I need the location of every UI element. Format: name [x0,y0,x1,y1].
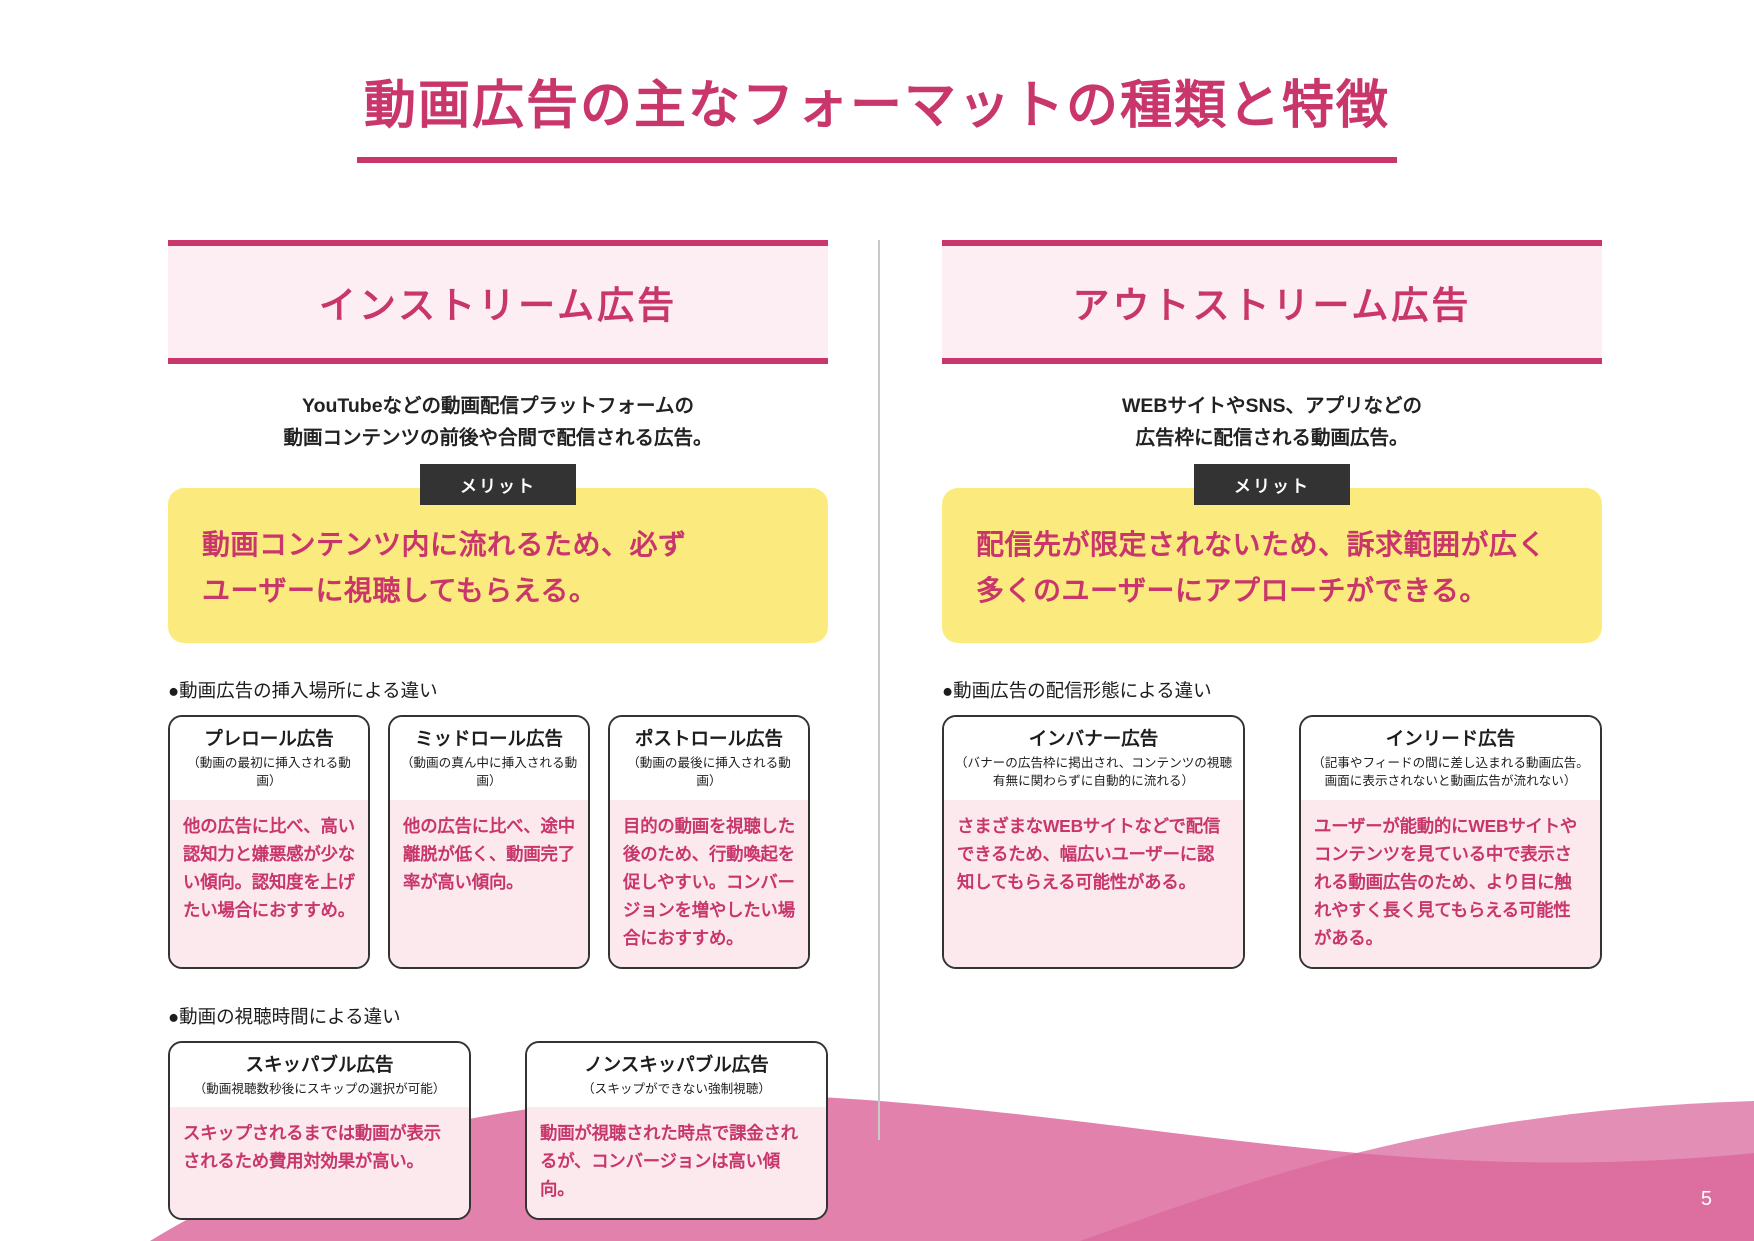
merit-line: 多くのユーザーにアプローチができる。 [976,568,1568,613]
column-description-line: 動画コンテンツの前後や合間で配信される広告。 [168,422,828,454]
column-description: WEBサイトやSNS、アプリなどの 広告枠に配信される動画広告。 [942,390,1602,454]
merit-block: メリット 動画コンテンツ内に流れるため、必ず ユーザーに視聴してもらえる。 [168,488,828,643]
column-divider [878,240,880,1140]
card-text: さまざまなWEBサイトなどで配信できるため、幅広いユーザーに認知してもらえる可能… [957,812,1230,897]
card-body: スキップされるまでは動画が表示されるため費用対効果が高い。 [170,1107,469,1218]
column-description-line: YouTubeなどの動画配信プラットフォームの [168,390,828,422]
column-description: YouTubeなどの動画配信プラットフォームの 動画コンテンツの前後や合間で配信… [168,390,828,454]
title-underline [357,157,1397,163]
column-banner: アウトストリーム広告 [942,240,1602,364]
card-subtitle: （記事やフィードの間に差し込まれる動画広告。画面に表示されないと動画広告が流れな… [1309,754,1592,791]
card-subtitle: （動画の最後に挿入される動画） [618,754,800,791]
card-body: 他の広告に比べ、途中離脱が低く、動画完了率が高い傾向。 [390,800,588,967]
card-subtitle: （動画の最初に挿入される動画） [178,754,360,791]
column-banner-label: インストリーム広告 [319,275,677,329]
card-title: ミッドロール広告 [398,727,580,750]
card-title: インバナー広告 [952,727,1235,750]
merit-badge: メリット [420,464,576,505]
page-number: 5 [1701,1188,1712,1211]
card-title: インリード広告 [1309,727,1592,750]
card-body: 他の広告に比べ、高い認知力と嫌悪感が少ない傾向。認知度を上げたい場合におすすめ。 [170,800,368,967]
card-text: ユーザーが能動的にWEBサイトやコンテンツを見ている中で表示される動画広告のため… [1314,812,1587,953]
slide-root: 動画広告の主なフォーマットの種類と特徴 インストリーム広告 YouTubeなどの… [0,0,1754,1241]
card-head: ポストロール広告 （動画の最後に挿入される動画） [610,717,808,800]
card-subtitle: （動画の真ん中に挿入される動画） [398,754,580,791]
card-body: さまざまなWEBサイトなどで配信できるため、幅広いユーザーに認知してもらえる可能… [944,800,1243,967]
card-text: 他の広告に比べ、途中離脱が低く、動画完了率が高い傾向。 [403,812,575,897]
card-title: プレロール広告 [178,727,360,750]
card-text: 目的の動画を視聴した後のため、行動喚起を促しやすい。コンバージョンを増やしたい場… [623,812,795,953]
wave-shape-right [1080,1101,1754,1241]
card-head: インバナー広告 （バナーの広告枠に掲出され、コンテンツの視聴有無に関わらずに自動… [944,717,1243,800]
card-text: 動画が視聴された時点で課金されるが、コンバージョンは高い傾向。 [540,1119,813,1204]
card-subtitle: （スキップができない強制視聴） [535,1080,818,1098]
card-row: インバナー広告 （バナーの広告枠に掲出され、コンテンツの視聴有無に関わらずに自動… [942,715,1602,969]
card-title: スキッパブル広告 [178,1053,461,1076]
merit-block: メリット 配信先が限定されないため、訴求範囲が広く 多くのユーザーにアプローチが… [942,488,1602,643]
card-subtitle: （バナーの広告枠に掲出され、コンテンツの視聴有無に関わらずに自動的に流れる） [952,754,1235,791]
card-in-banner[interactable]: インバナー広告 （バナーの広告枠に掲出され、コンテンツの視聴有無に関わらずに自動… [942,715,1245,969]
merit-badge: メリット [1194,464,1350,505]
section-heading: ●動画の視聴時間による違い [168,1003,828,1029]
merit-line: 配信先が限定されないため、訴求範囲が広く [976,522,1568,567]
card-body: 目的の動画を視聴した後のため、行動喚起を促しやすい。コンバージョンを増やしたい場… [610,800,808,967]
card-text: スキップされるまでは動画が表示されるため費用対効果が高い。 [183,1119,456,1175]
column-outstream: アウトストリーム広告 WEBサイトやSNS、アプリなどの 広告枠に配信される動画… [942,240,1602,969]
card-in-read[interactable]: インリード広告 （記事やフィードの間に差し込まれる動画広告。画面に表示されないと… [1299,715,1602,969]
card-midroll[interactable]: ミッドロール広告 （動画の真ん中に挿入される動画） 他の広告に比べ、途中離脱が低… [388,715,590,969]
column-instream: インストリーム広告 YouTubeなどの動画配信プラットフォームの 動画コンテン… [168,240,828,1220]
card-postroll[interactable]: ポストロール広告 （動画の最後に挿入される動画） 目的の動画を視聴した後のため、… [608,715,810,969]
card-head: ノンスキッパブル広告 （スキップができない強制視聴） [527,1043,826,1107]
card-text: 他の広告に比べ、高い認知力と嫌悪感が少ない傾向。認知度を上げたい場合におすすめ。 [183,812,355,925]
card-body: 動画が視聴された時点で課金されるが、コンバージョンは高い傾向。 [527,1107,826,1218]
card-subtitle: （動画視聴数秒後にスキップの選択が可能） [178,1080,461,1098]
column-description-line: 広告枠に配信される動画広告。 [942,422,1602,454]
section-heading: ●動画広告の配信形態による違い [942,677,1602,703]
section-heading: ●動画広告の挿入場所による違い [168,677,828,703]
card-non-skippable[interactable]: ノンスキッパブル広告 （スキップができない強制視聴） 動画が視聴された時点で課金… [525,1041,828,1220]
card-title: ノンスキッパブル広告 [535,1053,818,1076]
merit-line: ユーザーに視聴してもらえる。 [202,568,794,613]
merit-line: 動画コンテンツ内に流れるため、必ず [202,522,794,567]
card-head: プレロール広告 （動画の最初に挿入される動画） [170,717,368,800]
column-banner-label: アウトストリーム広告 [1073,275,1472,329]
card-row: スキッパブル広告 （動画視聴数秒後にスキップの選択が可能） スキップされるまでは… [168,1041,828,1220]
column-description-line: WEBサイトやSNS、アプリなどの [942,390,1602,422]
card-head: スキッパブル広告 （動画視聴数秒後にスキップの選択が可能） [170,1043,469,1107]
merit-box: 動画コンテンツ内に流れるため、必ず ユーザーに視聴してもらえる。 [168,488,828,643]
page-title-text: 動画広告の主なフォーマットの種類と特徴 [0,78,1754,135]
card-row: プレロール広告 （動画の最初に挿入される動画） 他の広告に比べ、高い認知力と嫌悪… [168,715,828,969]
merit-box: 配信先が限定されないため、訴求範囲が広く 多くのユーザーにアプローチができる。 [942,488,1602,643]
page-title: 動画広告の主なフォーマットの種類と特徴 [0,78,1754,163]
column-banner: インストリーム広告 [168,240,828,364]
card-preroll[interactable]: プレロール広告 （動画の最初に挿入される動画） 他の広告に比べ、高い認知力と嫌悪… [168,715,370,969]
card-skippable[interactable]: スキッパブル広告 （動画視聴数秒後にスキップの選択が可能） スキップされるまでは… [168,1041,471,1220]
card-title: ポストロール広告 [618,727,800,750]
card-body: ユーザーが能動的にWEBサイトやコンテンツを見ている中で表示される動画広告のため… [1301,800,1600,967]
card-head: ミッドロール広告 （動画の真ん中に挿入される動画） [390,717,588,800]
card-head: インリード広告 （記事やフィードの間に差し込まれる動画広告。画面に表示されないと… [1301,717,1600,800]
